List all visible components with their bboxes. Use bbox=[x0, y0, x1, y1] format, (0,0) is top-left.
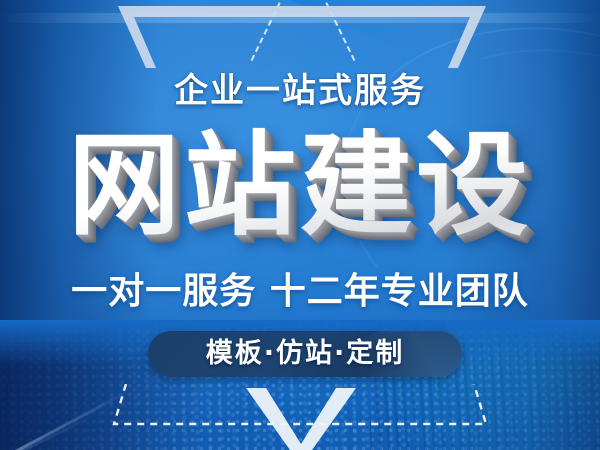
top-bracket-icon bbox=[118, 6, 486, 68]
page-title: 网站建设 网站建设 bbox=[0, 126, 600, 246]
service-badge: 模板·仿站·定制 bbox=[148, 331, 462, 377]
subtitle: 一对一服务 十二年专业团队 bbox=[0, 268, 600, 316]
page-title-face: 网站建设 bbox=[68, 121, 532, 251]
service-badge-label: 模板·仿站·定制 bbox=[148, 331, 462, 377]
chevron-down-icon bbox=[246, 388, 356, 450]
promo-banner: 企业一站式服务 网站建设 网站建设 一对一服务 十二年专业团队 模板·仿站·定制 bbox=[0, 0, 600, 450]
headline-top: 企业一站式服务 bbox=[0, 68, 600, 114]
